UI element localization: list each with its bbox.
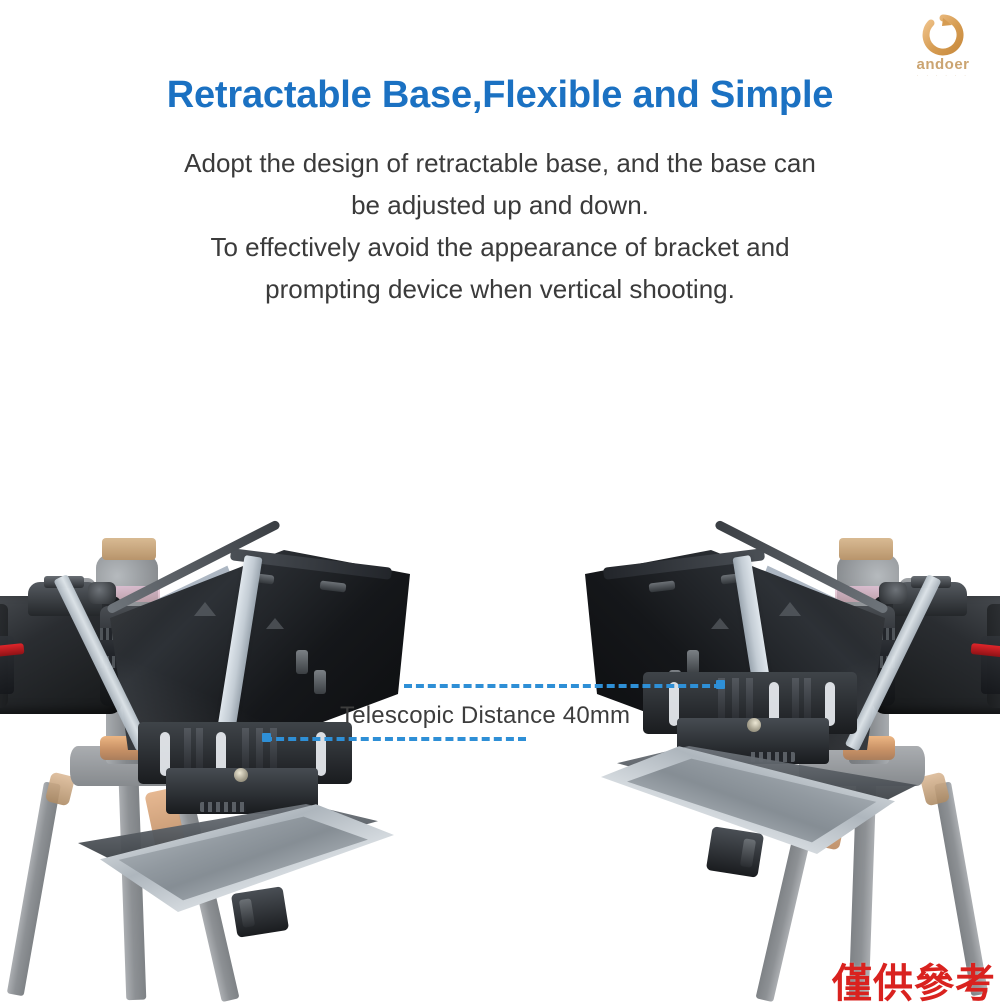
- product-photo-stage: [0, 430, 1000, 1000]
- brand-wordmark: andoer: [916, 57, 969, 72]
- tripod-leg: [7, 782, 61, 997]
- tablet-clamp: [706, 826, 764, 878]
- andoer-ring-icon: [922, 14, 964, 56]
- tablet-clamp: [231, 886, 289, 938]
- description-line-3: To effectively avoid the appearance of b…: [0, 226, 1000, 268]
- description-line-2: be adjusted up and down.: [0, 184, 1000, 226]
- page-title: Retractable Base,Flexible and Simple: [0, 74, 1000, 117]
- hood-clip: [296, 650, 308, 674]
- description-line-1: Adopt the design of retractable base, an…: [0, 142, 1000, 184]
- watermark: 僅供參考: [832, 964, 996, 1004]
- right-photo: [535, 430, 1000, 1000]
- bracket-thumb-screw: [747, 718, 761, 732]
- description-line-4: prompting device when vertical shooting.: [0, 268, 1000, 310]
- description-text: Adopt the design of retractable base, an…: [0, 142, 1000, 310]
- bracket-thumb-screw: [234, 768, 248, 782]
- hood-clip: [314, 670, 326, 694]
- bracket-grip-notch: [200, 802, 246, 812]
- left-photo: [0, 430, 460, 1000]
- retractable-base-bracket: [138, 710, 352, 818]
